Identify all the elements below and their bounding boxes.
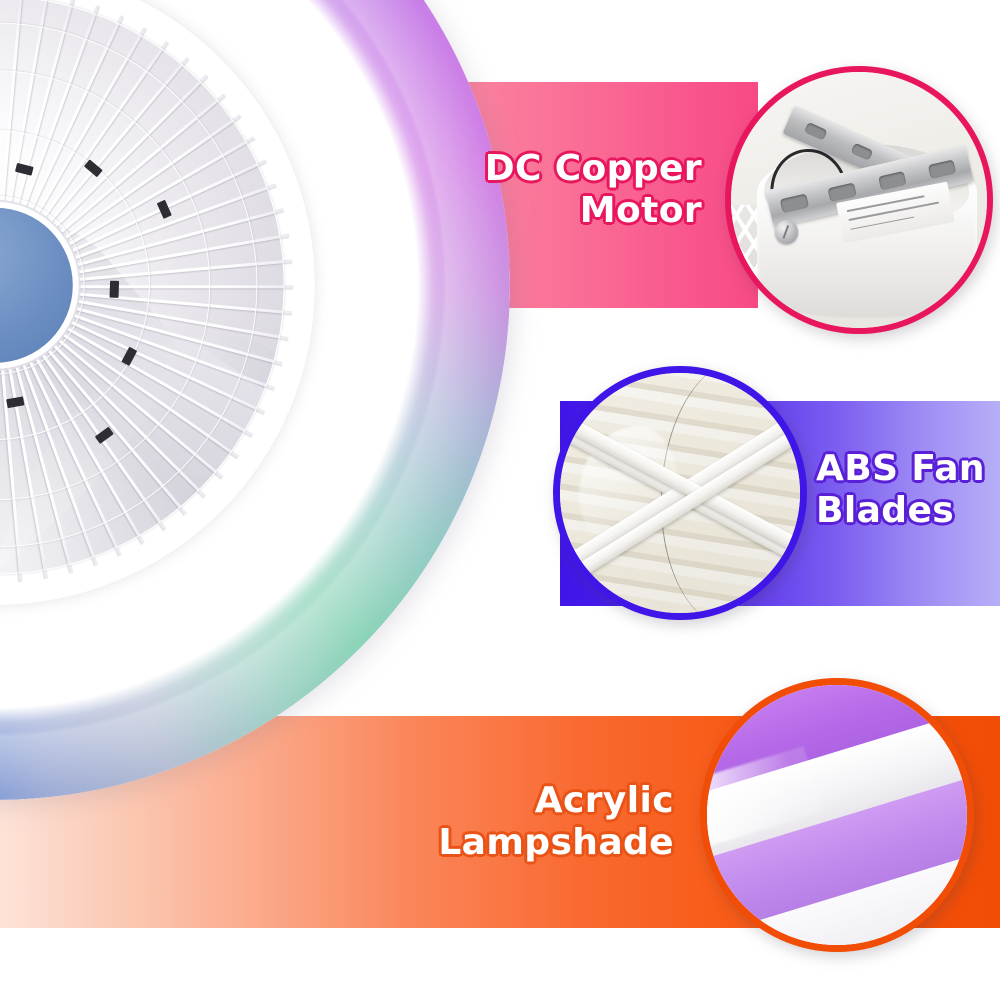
label-dc-copper-motor: DC Copper Motor — [452, 148, 702, 233]
product-image-ceiling-fan-light — [0, 0, 510, 800]
label-acrylic-lampshade: Acrylic Lampshade — [398, 780, 674, 865]
callout-circle-acrylic-lampshade — [700, 678, 974, 952]
motor-housing-photo — [731, 72, 987, 328]
bracket-slot — [780, 193, 809, 212]
label-text-line — [848, 202, 939, 221]
fan-blade-grille-photo — [560, 373, 800, 613]
bracket-slot — [878, 171, 907, 190]
grille-reference-mark — [110, 281, 120, 298]
bracket-slot — [804, 122, 827, 140]
bracket-slot — [851, 142, 874, 160]
acrylic-lampshade-photo — [707, 685, 967, 945]
label-text-line — [846, 196, 924, 213]
callout-circle-dc-copper-motor — [725, 66, 993, 334]
label-abs-fan-blades: ABS Fan Blades — [816, 448, 1000, 533]
callout-circle-abs-fan-blades — [553, 366, 807, 620]
motor-screw — [775, 220, 798, 243]
bracket-slot — [928, 159, 957, 178]
feature-callout-graphic: DC Copper Motor ABS Fan Blades Acrylic L… — [0, 0, 1000, 1000]
